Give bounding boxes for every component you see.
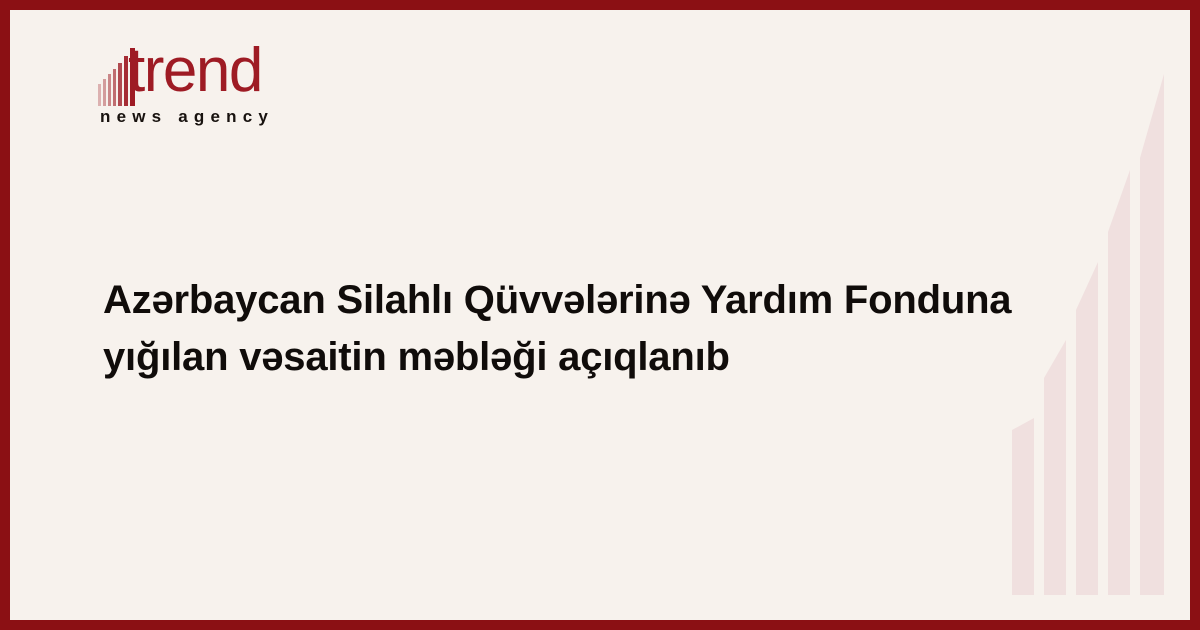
trend-news-agency-logo[interactable]: trend news agency (96, 48, 356, 148)
logo-bar-3 (108, 74, 111, 106)
deco-bar-1 (1012, 418, 1034, 595)
deco-bar-4 (1108, 170, 1130, 595)
headline: Azərbaycan Silahlı Qüvvələrinə Yardım Fo… (103, 272, 1103, 386)
logo-bar-4 (113, 69, 116, 106)
logo-tagline: news agency (100, 108, 274, 125)
logo-bar-2 (103, 79, 106, 106)
logo-wordmark: trend (128, 40, 262, 102)
logo-bar-5 (118, 63, 122, 106)
deco-bar-5 (1140, 74, 1164, 595)
card-inner-surface: trend news agency Azərbaycan Silahlı Qüv… (10, 10, 1190, 620)
og-card: trend news agency Azərbaycan Silahlı Qüv… (0, 0, 1200, 630)
logo-bar-1 (98, 84, 101, 106)
